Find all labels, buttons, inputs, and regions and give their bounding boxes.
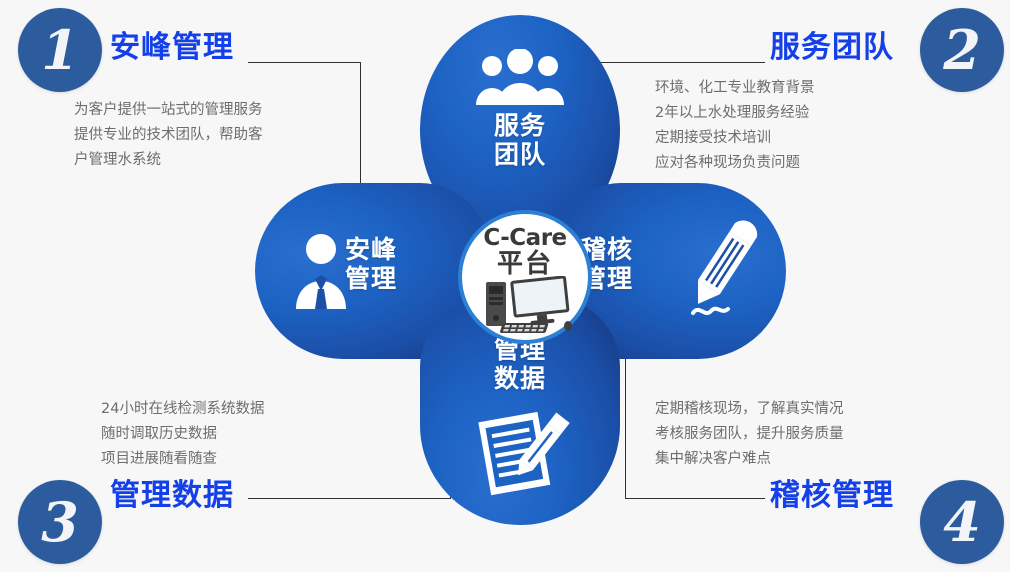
quadrant-body-1: 为客户提供一站式的管理服务 提供专业的技术团队，帮助客 户管理水系统 [74,98,263,173]
quadrant-body-1-line-2: 提供专业的技术团队，帮助客 [74,123,263,148]
quadrant-title-4: 稽核管理 [770,470,894,514]
quadrant-title-3: 管理数据 [110,470,234,514]
people-group-icon [472,49,568,105]
petal-label-service-team: 服务 团队 [420,111,620,169]
flower-diagram: 服务 团队 安峰 管理 [255,15,785,525]
desktop-computer-icon [480,276,572,334]
petal-label-anfeng-management: 安峰 管理 [345,235,455,293]
quadrant-body-3: 24小时在线检测系统数据 随时调取历史数据 项目进展随看随查 [101,397,264,472]
infographic-stage: 1 2 3 4 安峰管理 服务团队 管理数据 稽核管理 为客户提供一站式的管理服… [0,0,1010,572]
pencil-icon [679,217,765,327]
step-number-circle-1: 1 [18,8,102,92]
step-number-circle-2: 2 [920,8,1004,92]
quadrant-body-3-line-3: 项目进展随看随查 [101,447,264,472]
hub-platform-circle[interactable]: C-Care 平台 [458,210,592,344]
quadrant-title-1: 安峰管理 [110,22,234,66]
quadrant-body-1-line-1: 为客户提供一站式的管理服务 [74,98,263,123]
petal-label-audit-management: 稽核 管理 [581,235,691,293]
quadrant-body-3-line-1: 24小时在线检测系统数据 [101,397,264,422]
quadrant-title-2: 服务团队 [770,22,894,66]
hub-text: C-Care 平台 [462,226,588,278]
hub-text-line-2: 平台 [462,251,588,278]
step-number-circle-4: 4 [920,480,1004,564]
quadrant-body-3-line-2: 随时调取历史数据 [101,422,264,447]
quadrant-body-1-line-3: 户管理水系统 [74,148,263,173]
clipboard-pencil-icon [476,405,570,497]
step-number-circle-3: 3 [18,480,102,564]
hub-text-line-1: C-Care [462,226,588,251]
